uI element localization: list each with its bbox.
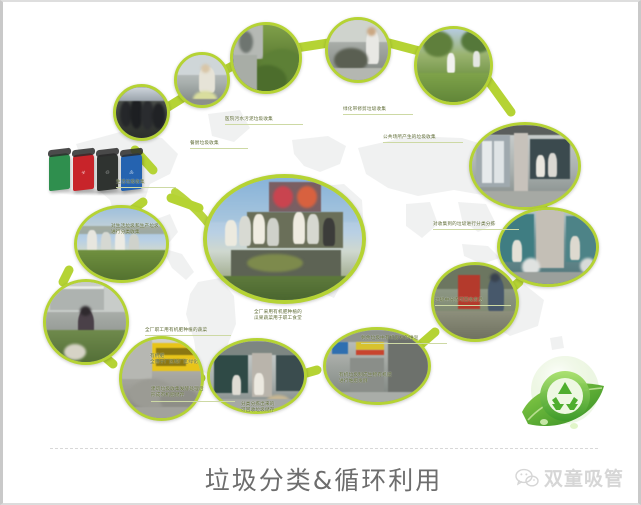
node-green-clippings	[230, 22, 302, 94]
caption-construction-waste: 建筑垃圾收集发酵处理后 形成有机肥储存	[151, 387, 235, 402]
caption-staff-vegetables: 全厂职工用有机肥种植的蔬菜	[145, 328, 231, 336]
caption-recyclable-storage: 分类分拣出来的 可回收垃圾储存	[241, 402, 315, 415]
caption-sorted-collection: 对生活垃圾和生产垃圾 进行分类收集	[111, 224, 179, 237]
caption-sorting: 对收集到的垃圾进行分类分拣	[433, 222, 519, 230]
bin-lid	[48, 148, 71, 158]
caption-biofertilizer: 有机垃圾制成生物有机肥 进行堆肥发酵	[339, 373, 419, 386]
red-bin: ☣	[73, 153, 94, 192]
node-public-area-waste	[414, 26, 493, 105]
node-kitchen-waste	[174, 52, 230, 108]
bin-mark: ♳	[126, 166, 137, 179]
node-garbage-bags	[113, 84, 170, 141]
recycle-logo	[516, 350, 614, 442]
caption-household-collection: 生活垃圾收集	[116, 180, 176, 188]
caption-organic-heaping: 剩余垃圾中有机废料的堆沤	[361, 336, 447, 344]
bin-mark	[54, 166, 65, 179]
bin-lid	[72, 148, 95, 158]
footer-divider	[50, 448, 598, 449]
watermark-text: 双童吸管	[544, 464, 624, 491]
caption-greenbelt-waste: 绿化带修剪垃圾收集	[343, 107, 413, 115]
node-storage-room	[119, 336, 204, 421]
caption-fertilizer-use: 有机肥 全用于厂区和厂区绿化	[150, 354, 226, 367]
node-central-harvest	[203, 174, 366, 304]
caption-recyclable-sorting: 垃圾中分拣可回收废品	[435, 298, 511, 306]
bin-lid	[96, 148, 119, 158]
caption-hospital-waste: 医院污水污泥垃圾收集	[225, 117, 303, 125]
caption-canteen-produce: 全厂采用有机肥种植的 瓜果蔬菜用于职工食堂	[254, 310, 342, 323]
caption-kitchen-waste: 餐厨垃圾收集	[190, 141, 248, 149]
node-sorting-station	[469, 122, 581, 210]
bin-mark: ☣	[78, 166, 89, 179]
green-bin	[49, 153, 70, 192]
bin-mark: ♲	[102, 166, 113, 179]
infographic-poster: ☣ ♲ ♳ 生活垃圾收集 对生活垃圾和生产垃圾 进行分类收集 餐厨垃圾收集 医院…	[0, 0, 641, 505]
wechat-icon	[515, 468, 539, 488]
node-vegetable-field	[74, 205, 169, 283]
node-street-collection	[325, 17, 391, 83]
wechat-watermark: 双童吸管	[515, 464, 624, 491]
caption-public-waste: 公共场所产生的垃圾收集	[383, 135, 463, 143]
trash-bin-group: ☣ ♲ ♳	[49, 136, 153, 198]
black-bin: ♲	[97, 153, 118, 192]
node-organic-fertilizer	[43, 279, 129, 365]
bin-lid	[120, 148, 143, 158]
